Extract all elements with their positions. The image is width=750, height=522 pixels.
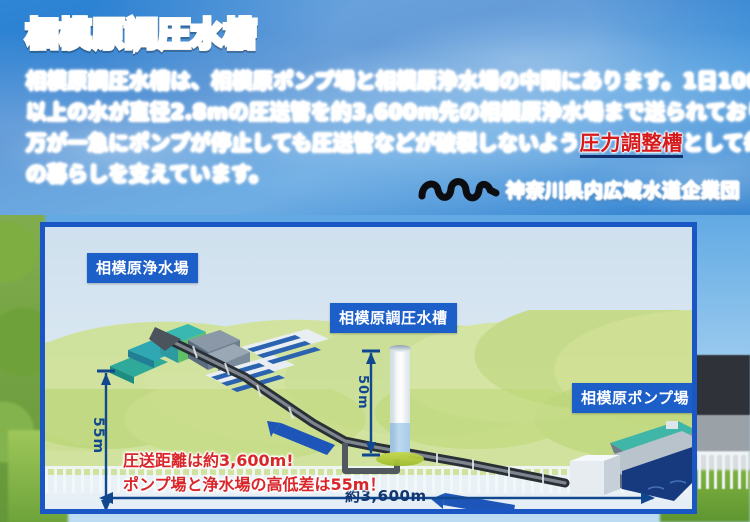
- body-line-3-tail: として毎日: [683, 131, 750, 155]
- red-annotation-block: 圧送距離は約3,600m! ポンプ場と浄水場の高低差は55m！: [123, 449, 385, 497]
- tower-cap: [389, 345, 411, 352]
- body-line-3: 万が一急にポンプが停止しても圧送管などが破裂しないよう圧力調整槽として毎日: [26, 128, 726, 159]
- pressure-tank-tower: [390, 349, 410, 457]
- screenshot-root: 相模原調圧水槽 相模原調圧水槽 相模原調圧水槽は、相模原ポンプ場と相模原浄水場の…: [0, 0, 750, 522]
- sign-title-block: 相模原調圧水槽 相模原調圧水槽: [26, 16, 257, 53]
- label-purification-plant: 相模原浄水場: [87, 253, 198, 283]
- label-pressure-tank: 相模原調圧水槽: [330, 303, 457, 333]
- organization-name: 神奈川県内広域水道企業団: [506, 176, 740, 203]
- dimension-tank-50m: 50m: [357, 349, 383, 457]
- organization-logo-row: 神奈川県内広域水道企業団: [420, 174, 740, 204]
- sign-body-text: 相模原調圧水槽は、相模原ポンプ場と相模原浄水場の中間にあります。1日100万t …: [26, 66, 726, 190]
- body-line-1: 相模原調圧水槽は、相模原ポンプ場と相模原浄水場の中間にあります。1日100万t: [26, 66, 726, 97]
- dimension-50m-label: 50m: [355, 375, 370, 410]
- body-line-2: 以上の水が直径2.8mの圧送管を約3,600m先の相模原浄水場まで送られており、: [26, 97, 726, 128]
- red-note-line-2: ポンプ場と浄水場の高低差は55m！: [123, 473, 385, 497]
- red-note-line-1: 圧送距離は約3,600m!: [123, 449, 385, 473]
- label-pump-station: 相模原ポンプ場: [572, 383, 697, 413]
- wave-logo-icon: [420, 174, 498, 204]
- dimension-55m-label: 55m: [90, 417, 106, 454]
- diagram-panel: 相模原浄水場 相模原調圧水槽 相模原ポンプ場 55m: [40, 222, 697, 514]
- highlight-term: 圧力調整槽: [580, 131, 683, 158]
- information-sign-board: 相模原調圧水槽 相模原調圧水槽 相模原調圧水槽は、相模原ポンプ場と相模原浄水場の…: [0, 0, 750, 522]
- page-title: 相模原調圧水槽: [26, 16, 257, 53]
- body-line-3-lead: 万が一急にポンプが停止しても圧送管などが破裂しないよう: [26, 131, 580, 155]
